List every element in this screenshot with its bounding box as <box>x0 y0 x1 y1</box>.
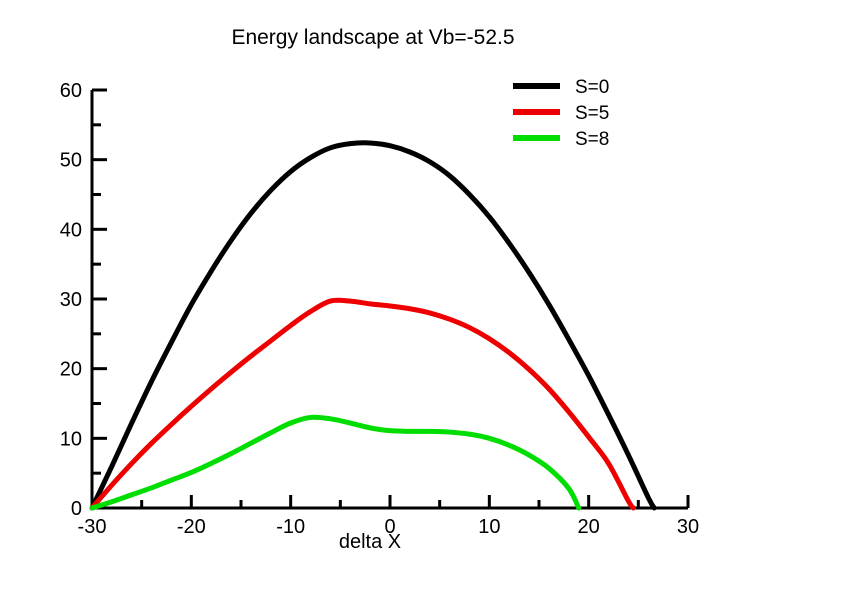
x-axis-major-ticks <box>92 495 688 508</box>
y-tick-label: 40 <box>60 219 82 241</box>
y-tick-label: 20 <box>60 359 82 381</box>
chart-figure: Energy landscape at Vb=-52.5 -30-20-1001… <box>0 0 842 595</box>
chart-legend: S=0S=5S=8 <box>513 77 609 150</box>
x-axis-label: delta X <box>0 531 842 554</box>
legend-label-s0: S=0 <box>575 77 609 98</box>
data-series-group <box>92 143 654 508</box>
legend-label-s8: S=8 <box>575 129 609 150</box>
legend-label-s5: S=5 <box>575 103 609 124</box>
y-axis-major-ticks <box>92 90 107 508</box>
plot-canvas: -30-20-100102030 0102030405060 S=0S=5S=8 <box>0 0 842 595</box>
y-tick-label: 60 <box>60 80 82 102</box>
y-tick-label: 30 <box>60 289 82 311</box>
series-line-s0 <box>92 143 654 508</box>
axes-lines <box>92 90 688 508</box>
y-tick-label: 10 <box>60 428 82 450</box>
y-tick-label: 50 <box>60 150 82 172</box>
y-tick-label: 0 <box>71 498 82 520</box>
y-axis-tick-labels: 0102030405060 <box>60 80 82 520</box>
x-axis-label-text: delta X <box>339 531 401 553</box>
